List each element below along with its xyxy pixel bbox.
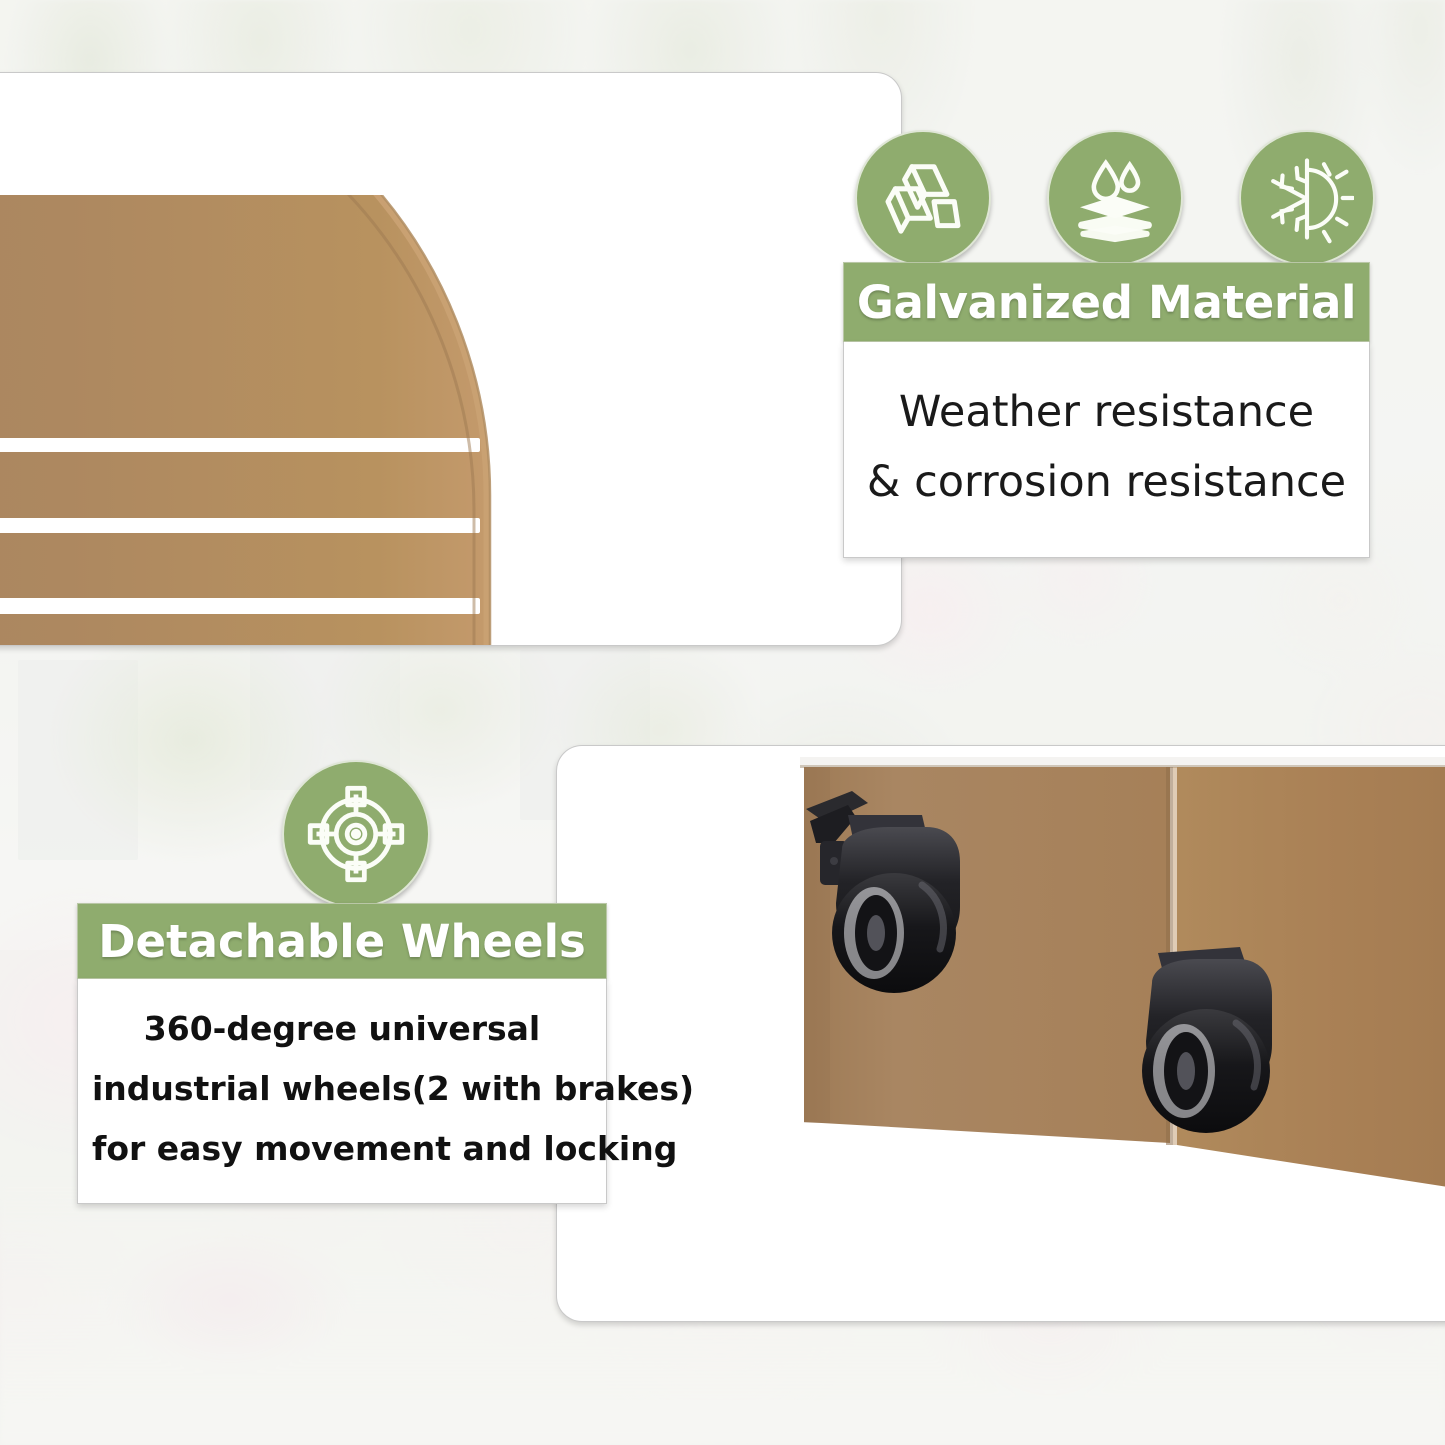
wheels-body-line-3: for easy movement and locking [92, 1119, 592, 1179]
snowflake-sun-icon [1239, 130, 1375, 266]
caster-target-icon [282, 760, 430, 908]
feature-callout-wheels: Detachable Wheels 360-degree universal i… [77, 903, 607, 1204]
wheels-body-line-2: industrial wheels(2 with brakes) [92, 1059, 592, 1119]
galvanized-title: Galvanized Material [857, 276, 1356, 329]
wheels-banner: Detachable Wheels [77, 903, 607, 979]
arched-slat-panel-photo [0, 195, 650, 645]
water-droplet-layers-icon [1047, 130, 1183, 266]
galvanized-banner: Galvanized Material [843, 262, 1370, 342]
metal-ingots-icon [855, 130, 991, 266]
feature-callout-galvanized: Galvanized Material Weather resistance &… [843, 262, 1370, 558]
wheels-body: 360-degree universal industrial wheels(2… [77, 979, 607, 1204]
galvanized-body: Weather resistance & corrosion resistanc… [843, 342, 1370, 558]
galvanized-body-line-2: & corrosion resistance [860, 448, 1353, 518]
galvanized-body-line-1: Weather resistance [860, 378, 1353, 448]
wheels-body-line-1: 360-degree universal [92, 999, 592, 1059]
galvanized-icon-row [855, 130, 1375, 270]
planter-box-with-casters-photo [790, 757, 1445, 1257]
wheels-title: Detachable Wheels [98, 915, 586, 968]
caster-wheel-right [1142, 947, 1272, 1133]
